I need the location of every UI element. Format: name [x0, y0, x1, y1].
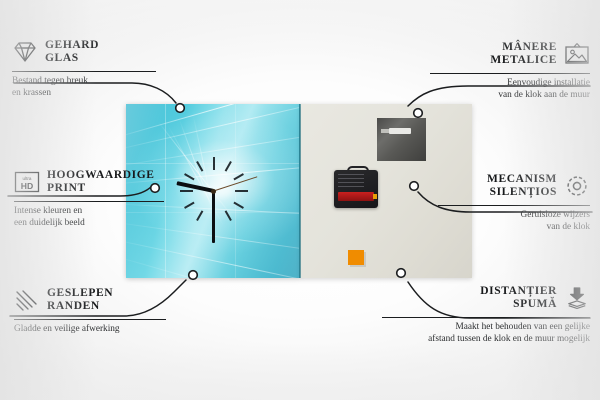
- picture-frame-hanger-icon: [564, 43, 590, 65]
- callout-desc-line2: afstand tussen de klok en de muur mogeli…: [376, 334, 590, 346]
- ultra-hd-icon: ultra HD: [14, 171, 40, 193]
- callout-desc-line2: een duidelijk beeld: [14, 218, 174, 230]
- callout-hoogwaardige-print: ultra HD HOOGWAARDIGE PRINT Intense kleu…: [14, 168, 174, 229]
- callout-title-line1: MÂNERE: [502, 41, 557, 53]
- foam-spacer: [348, 250, 364, 265]
- callout-desc-line2: en krassen: [12, 88, 162, 100]
- arrow-down-layers-icon: [564, 287, 590, 309]
- product-infographic: GEHARD GLAS Bestand tegen breuk en krass…: [0, 0, 600, 400]
- callout-title-line2: SPUMĂ: [513, 298, 557, 310]
- callout-desc-line1: Intense kleuren en: [14, 206, 174, 218]
- callout-title-line2: PRINT: [47, 182, 86, 194]
- callout-rule: [438, 205, 590, 206]
- callout-rule: [12, 71, 156, 72]
- svg-text:HD: HD: [21, 181, 33, 191]
- callout-title-line1: HOOGWAARDIGE: [47, 169, 155, 181]
- callout-rule: [14, 201, 164, 202]
- callout-desc-line1: Maakt het behouden van een gelijke: [376, 322, 590, 334]
- callout-title-line1: DISTANȚIER: [480, 285, 557, 297]
- product-photo: [126, 104, 472, 278]
- callout-rule: [430, 73, 590, 74]
- hand-cap: [211, 189, 216, 194]
- callout-title-line2: SILENȚIOS: [490, 186, 557, 198]
- bevelled-edges-icon: [14, 289, 40, 311]
- diamond-icon: [12, 41, 38, 63]
- callout-desc-line1: Eenvoudige installatie: [424, 78, 590, 90]
- gear-icon: [564, 175, 590, 197]
- callout-title-line1: GESLEPEN: [47, 287, 113, 299]
- callout-distantier-spuma: DISTANȚIER SPUMĂ Maakt het behouden van …: [376, 284, 590, 345]
- callout-rule: [14, 319, 166, 320]
- callout-desc-line1: Gladde en veilige afwerking: [14, 324, 174, 336]
- callout-rule: [382, 317, 590, 318]
- battery: [338, 192, 374, 201]
- clock-mechanism: [334, 166, 378, 208]
- callout-title-line1: MECANISM: [487, 173, 557, 185]
- callout-title-line2: RANDEN: [47, 300, 100, 312]
- callout-manere-metalice: MÂNERE METALICE Eenvoudige installatie v…: [424, 40, 590, 101]
- metal-hanger: [377, 118, 426, 161]
- callout-geslepen-randen: GESLEPEN RANDEN Gladde en veilige afwerk…: [14, 286, 174, 336]
- callout-title-line2: GLAS: [45, 52, 79, 64]
- minute-hand: [212, 191, 215, 243]
- callout-desc-line2: van de klok: [434, 222, 590, 234]
- callout-desc-line1: Geruisloze wijzers: [434, 210, 590, 222]
- callout-title-line1: GEHARD: [45, 39, 99, 51]
- callout-desc-line1: Bestand tegen breuk: [12, 76, 162, 88]
- callout-title-line2: METALICE: [490, 54, 557, 66]
- callout-mecanism-silentios: MECANISM SILENȚIOS Geruisloze wijzers va…: [434, 172, 590, 233]
- callout-desc-line2: van de klok aan de muur: [424, 90, 590, 102]
- callout-gehard-glas: GEHARD GLAS Bestand tegen breuk en krass…: [12, 38, 162, 99]
